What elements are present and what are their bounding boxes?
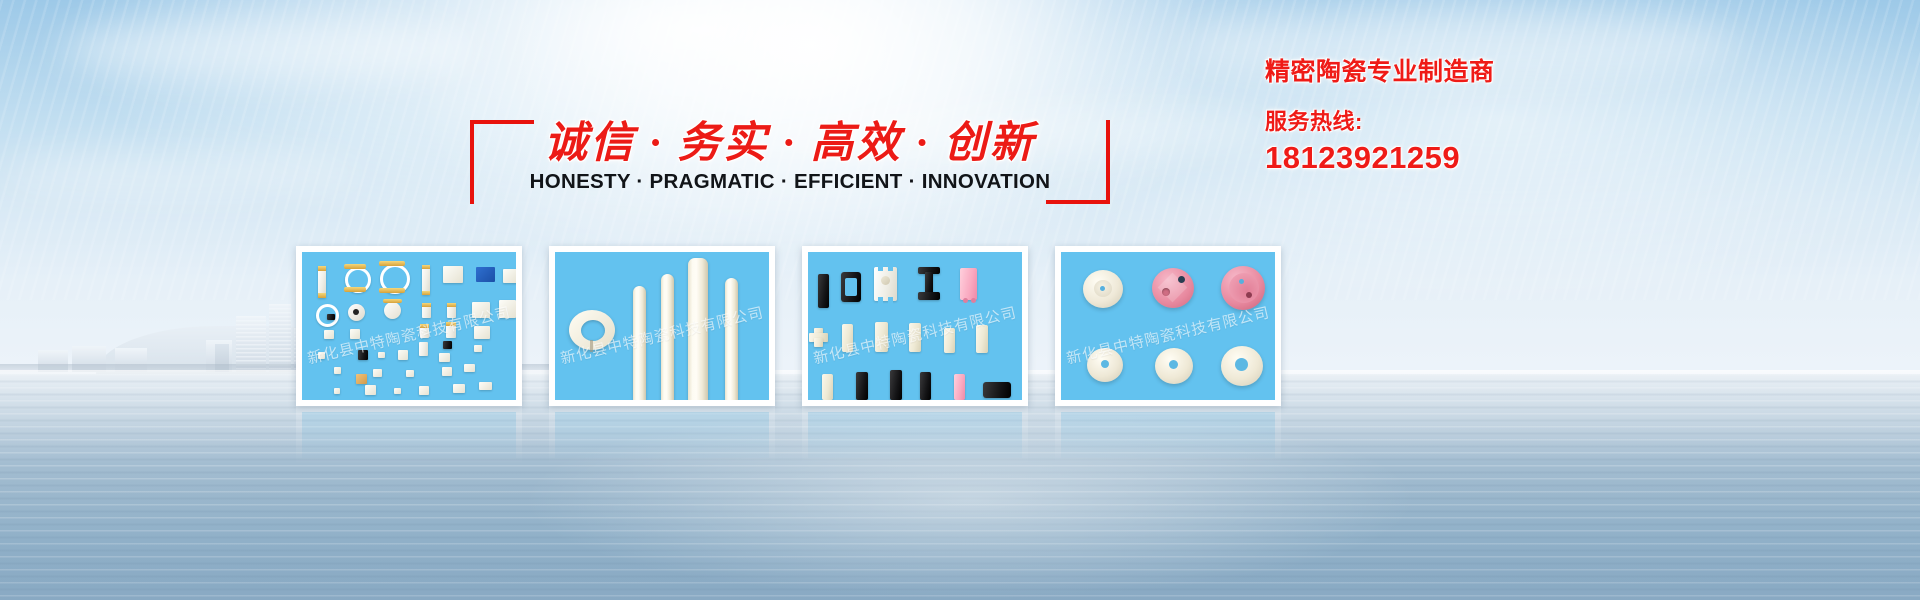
cloud <box>60 18 480 80</box>
building <box>269 304 291 372</box>
product-stage: 新化县中特陶瓷科技有限公司 <box>555 252 769 400</box>
panel-reflection <box>549 406 775 464</box>
panel-reflection <box>296 406 522 464</box>
hero-banner: 诚信 · 务实 · 高效 · 创新 HONESTY · PRAGMATIC · … <box>0 0 1920 600</box>
contact-block: 精密陶瓷专业制造商 服务热线: 18123921259 <box>1265 52 1905 176</box>
cloud <box>0 150 360 196</box>
hotline-number[interactable]: 18123921259 <box>1265 140 1905 176</box>
building-windows <box>269 304 291 372</box>
slogan-english: HONESTY · PRAGMATIC · EFFICIENT · INNOVA… <box>470 170 1110 194</box>
slogan-block: 诚信 · 务实 · 高效 · 创新 HONESTY · PRAGMATIC · … <box>470 108 1110 208</box>
product-panel-4[interactable]: 新化县中特陶瓷科技有限公司 <box>1055 246 1281 406</box>
company-tagline: 精密陶瓷专业制造商 <box>1265 52 1905 88</box>
product-stage: 新化县中特陶瓷科技有限公司 <box>1061 252 1275 400</box>
product-panel-3[interactable]: 新化县中特陶瓷科技有限公司 <box>802 246 1028 406</box>
product-stage: 新化县中特陶瓷科技有限公司 <box>302 252 516 400</box>
product-panel-2[interactable]: 新化县中特陶瓷科技有限公司 <box>549 246 775 406</box>
slogan-chinese: 诚信 · 务实 · 高效 · 创新 <box>470 108 1110 170</box>
panel-reflection <box>1055 406 1281 464</box>
product-panel-row: 新化县中特陶瓷科技有限公司 新化县中特陶瓷科技有限公司 <box>296 246 1536 406</box>
product-panel-1[interactable]: 新化县中特陶瓷科技有限公司 <box>296 246 522 406</box>
panel-reflection <box>802 406 1028 464</box>
product-stage: 新化县中特陶瓷科技有限公司 <box>808 252 1022 400</box>
hotline-label: 服务热线: <box>1265 104 1905 136</box>
